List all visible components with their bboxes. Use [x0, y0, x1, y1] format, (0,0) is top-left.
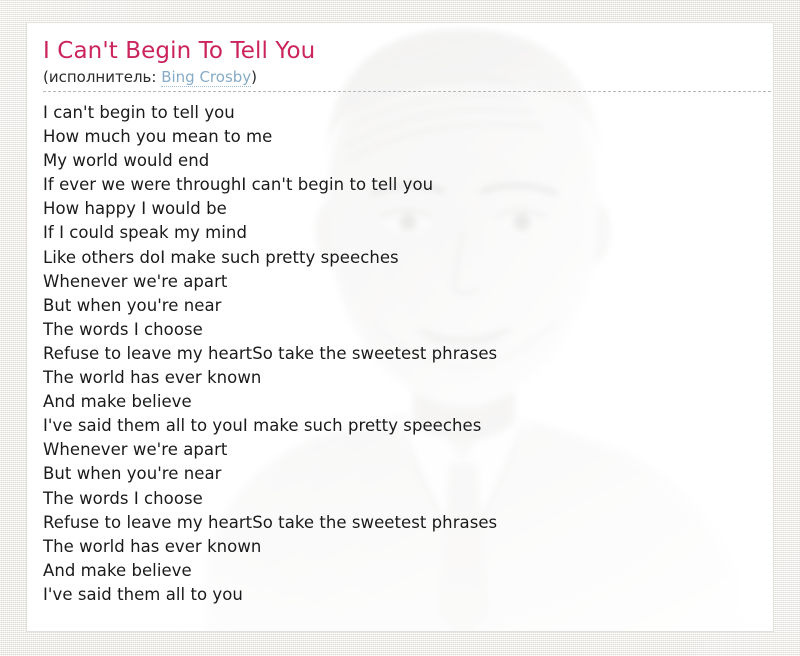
artist-line: (исполнитель: Bing Crosby)	[43, 67, 763, 87]
lyric-line: My world would end	[43, 149, 765, 173]
lyric-line: How happy I would be	[43, 197, 765, 221]
artist-link[interactable]: Bing Crosby	[161, 68, 251, 87]
lyric-line: But when you're near	[43, 462, 765, 486]
lyric-line: If I could speak my mind	[43, 221, 765, 245]
lyric-line: I've said them all to youI make such pre…	[43, 414, 765, 438]
lyric-line: Whenever we're apart	[43, 438, 765, 462]
lyric-line: Like others doI make such pretty speeche…	[43, 246, 765, 270]
artist-suffix-label: )	[251, 68, 257, 86]
lyric-line: I've said them all to you	[43, 583, 765, 607]
lyric-line: If ever we were throughI can't begin to …	[43, 173, 765, 197]
lyric-line: The words I choose	[43, 318, 765, 342]
lyric-line: And make believe	[43, 390, 765, 414]
lyric-line: Refuse to leave my heartSo take the swee…	[43, 342, 765, 366]
lyric-line: The world has ever known	[43, 366, 765, 390]
header: I Can't Begin To Tell You (исполнитель: …	[43, 37, 763, 87]
page-frame: I Can't Begin To Tell You (исполнитель: …	[0, 0, 800, 656]
lyric-line: And make believe	[43, 559, 765, 583]
lyrics-body: I can't begin to tell you How much you m…	[43, 101, 765, 607]
lyric-line: Refuse to leave my heartSo take the swee…	[43, 511, 765, 535]
artist-prefix-label: (исполнитель:	[43, 68, 161, 86]
lyric-line: The words I choose	[43, 487, 765, 511]
lyric-line: How much you mean to me	[43, 125, 765, 149]
lyric-line: The world has ever known	[43, 535, 765, 559]
page-title: I Can't Begin To Tell You	[43, 37, 763, 65]
lyric-line: I can't begin to tell you	[43, 101, 765, 125]
header-divider	[43, 91, 774, 92]
lyrics-card: I Can't Begin To Tell You (исполнитель: …	[26, 22, 774, 632]
lyric-line: But when you're near	[43, 294, 765, 318]
lyric-line: Whenever we're apart	[43, 270, 765, 294]
